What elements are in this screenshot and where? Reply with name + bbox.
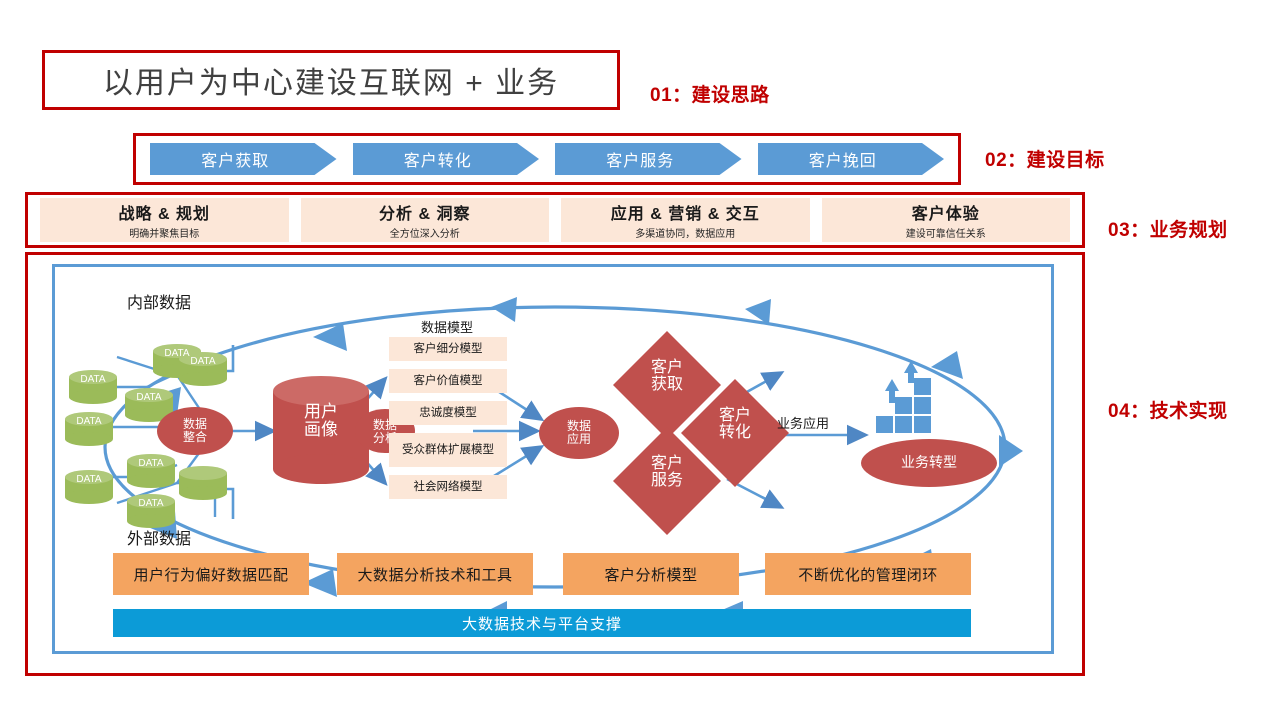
- bottom-box-customer-model[interactable]: 客户分析模型: [563, 553, 739, 595]
- business-application-label: 业务应用: [777, 413, 829, 432]
- model-box-social-network[interactable]: 社会网络模型: [389, 475, 507, 499]
- plan-title: 应用 & 营销 & 交互: [611, 200, 760, 224]
- title-box: 以用户为中心建设互联网 + 业务: [42, 50, 620, 110]
- chevron-label: 客户获取: [201, 147, 285, 171]
- chevron-customer-service[interactable]: 客户服务: [555, 143, 742, 175]
- plan-subtitle: 明确并聚焦目标: [129, 225, 199, 240]
- goals-box: 客户获取 客户转化 客户服务 客户挽回: [133, 133, 961, 185]
- model-box-audience-expansion[interactable]: 受众群体扩展模型: [389, 433, 507, 467]
- model-box-value[interactable]: 客户价值模型: [389, 369, 507, 393]
- section-label-03: 03：业务规划: [1108, 215, 1228, 242]
- chevron-label: 客户挽回: [809, 147, 893, 171]
- diagram-frame: 内部数据 外部数据 DATA DATA DATA DATA DATA DATA …: [52, 264, 1054, 654]
- bottom-box-optimization-loop[interactable]: 不断优化的管理闭环: [765, 553, 971, 595]
- section-label-02: 02：建设目标: [985, 145, 1105, 172]
- bottom-box-behavior-match[interactable]: 用户行为偏好数据匹配: [113, 553, 309, 595]
- bottom-box-bigdata-tools[interactable]: 大数据分析技术和工具: [337, 553, 533, 595]
- plan-title: 客户体验: [912, 200, 980, 224]
- technical-implementation-box: 内部数据 外部数据 DATA DATA DATA DATA DATA DATA …: [25, 252, 1085, 676]
- plan-subtitle: 建设可靠信任关系: [906, 225, 986, 240]
- chevron-label: 客户转化: [404, 147, 488, 171]
- chevron-customer-acquisition[interactable]: 客户获取: [150, 143, 337, 175]
- label-external-data: 外部数据: [127, 525, 191, 549]
- section-label-01: 01：建设思路: [650, 80, 770, 107]
- chevron-customer-winback[interactable]: 客户挽回: [758, 143, 945, 175]
- plan-title: 战略 & 规划: [119, 200, 210, 224]
- slide-canvas: 以用户为中心建设互联网 + 业务 01：建设思路 客户获取 客户转化 客户服务 …: [0, 0, 1280, 720]
- model-box-loyalty[interactable]: 忠诚度模型: [389, 401, 507, 425]
- chevron-label: 客户服务: [606, 147, 690, 171]
- plan-title: 分析 & 洞察: [379, 200, 470, 224]
- chevron-customer-conversion[interactable]: 客户转化: [353, 143, 540, 175]
- plan-segment-experience: 客户体验 建设可靠信任关系: [822, 198, 1071, 242]
- plan-segment-application: 应用 & 营销 & 交互 多渠道协同，数据应用: [561, 198, 810, 242]
- page-title: 以用户为中心建设互联网 + 业务: [103, 58, 559, 102]
- plan-segment-analysis: 分析 & 洞察 全方位深入分析: [301, 198, 550, 242]
- model-box-segmentation[interactable]: 客户细分模型: [389, 337, 507, 361]
- plan-subtitle: 多渠道协同，数据应用: [635, 225, 735, 240]
- platform-support-bar: 大数据技术与平台支撑: [113, 609, 971, 637]
- plan-segment-strategy: 战略 & 规划 明确并聚焦目标: [40, 198, 289, 242]
- label-internal-data: 内部数据: [127, 289, 191, 313]
- section-label-04: 04：技术实现: [1108, 396, 1228, 423]
- plan-subtitle: 全方位深入分析: [390, 225, 460, 240]
- model-group-header: 数据模型: [391, 317, 503, 336]
- business-planning-box: 战略 & 规划 明确并聚焦目标 分析 & 洞察 全方位深入分析 应用 & 营销 …: [25, 192, 1085, 248]
